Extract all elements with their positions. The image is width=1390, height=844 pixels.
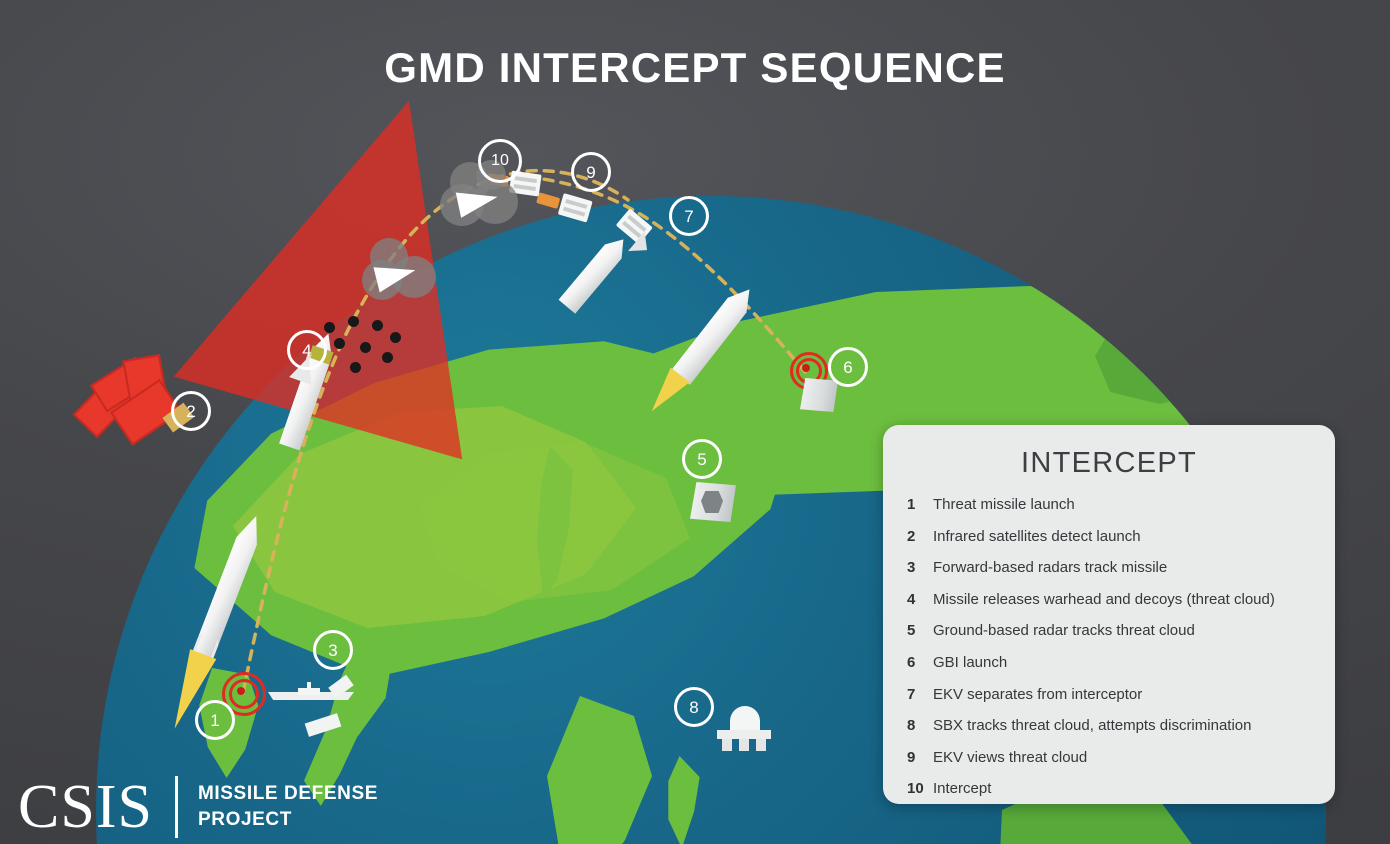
- landmass-indochina: [526, 696, 676, 844]
- legend-item-9-text: EKV views threat cloud: [933, 749, 1087, 766]
- csis-wordmark: CSIS: [18, 776, 153, 838]
- marker-2-label: 2: [186, 403, 195, 420]
- legend-panel: INTERCEPT 1 Threat missile launch 2 Infr…: [883, 425, 1335, 804]
- logo-subtitle-line2: PROJECT: [198, 807, 378, 833]
- marker-9[interactable]: 9: [571, 152, 611, 192]
- marker-1-label: 1: [210, 712, 219, 729]
- legend-item-5[interactable]: 5 Ground-based radar tracks threat cloud: [883, 622, 1335, 654]
- legend-item-5-text: Ground-based radar tracks threat cloud: [933, 622, 1195, 639]
- legend-item-10-number: 10: [907, 780, 933, 797]
- legend-item-1[interactable]: 1 Threat missile launch: [883, 496, 1335, 528]
- gbi-silo-structure: [800, 378, 838, 412]
- legend-item-3-number: 3: [907, 559, 933, 576]
- logo-subtitle-line1: MISSILE DEFENSE: [198, 781, 378, 807]
- gbi-target-core: [802, 364, 810, 372]
- marker-3[interactable]: 3: [313, 630, 353, 670]
- marker-2[interactable]: 2: [171, 391, 211, 431]
- legend-item-2[interactable]: 2 Infrared satellites detect launch: [883, 528, 1335, 560]
- decoy-dot: [390, 332, 401, 343]
- decoy-threat-cloud: [320, 316, 410, 378]
- legend-item-6-text: GBI launch: [933, 654, 1007, 671]
- legend-item-4-number: 4: [907, 591, 933, 608]
- marker-5[interactable]: 5: [682, 439, 722, 479]
- ship-mast: [307, 682, 311, 690]
- legend-item-3-text: Forward-based radars track missile: [933, 559, 1167, 576]
- legend-item-2-number: 2: [907, 528, 933, 545]
- marker-8-label: 8: [689, 699, 698, 716]
- legend-item-2-text: Infrared satellites detect launch: [933, 528, 1141, 545]
- csis-logo: CSIS MISSILE DEFENSE PROJECT: [18, 776, 378, 838]
- marker-6-label: 6: [843, 359, 852, 376]
- decoy-dot: [360, 342, 371, 353]
- target-ring-mid: [229, 679, 259, 709]
- marker-10-label: 10: [491, 153, 509, 169]
- legend-item-4-text: Missile releases warhead and decoys (thr…: [933, 591, 1275, 608]
- decoy-dot: [382, 352, 393, 363]
- marker-9-label: 9: [586, 164, 595, 181]
- legend-item-7[interactable]: 7 EKV separates from interceptor: [883, 686, 1335, 718]
- sbx-leg: [739, 739, 749, 751]
- threat-cloud-debris: [362, 236, 448, 312]
- legend-item-7-text: EKV separates from interceptor: [933, 686, 1142, 703]
- infographic-canvas: 1 2 3 4 5 6 7 8 9 10 GMD INTERCEPT SEQUE…: [0, 0, 1390, 844]
- ground-based-radar: [690, 482, 736, 522]
- decoy-dot: [324, 322, 335, 333]
- logo-divider: [175, 776, 178, 838]
- decoy-dot: [334, 338, 345, 349]
- legend-item-9[interactable]: 9 EKV views threat cloud: [883, 749, 1335, 781]
- marker-4-label: 4: [302, 342, 311, 359]
- page-title: GMD INTERCEPT SEQUENCE: [0, 44, 1390, 92]
- sbx-radar-platform: [717, 706, 771, 750]
- radar-aperture: [701, 491, 723, 513]
- marker-6[interactable]: 6: [828, 347, 868, 387]
- sbx-leg: [722, 739, 732, 751]
- decoy-dot: [372, 320, 383, 331]
- marker-7-label: 7: [684, 208, 693, 225]
- marker-1[interactable]: 1: [195, 700, 235, 740]
- landmass-philippines: [656, 756, 712, 844]
- legend-item-8-text: SBX tracks threat cloud, attempts discri…: [933, 717, 1251, 734]
- legend-item-8-number: 8: [907, 717, 933, 734]
- marker-3-label: 3: [328, 642, 337, 659]
- marker-8[interactable]: 8: [674, 687, 714, 727]
- legend-item-5-number: 5: [907, 622, 933, 639]
- legend-item-1-text: Threat missile launch: [933, 496, 1075, 513]
- sbx-radome: [730, 706, 760, 732]
- legend-title: INTERCEPT: [883, 447, 1335, 480]
- decoy-dot: [350, 362, 361, 373]
- legend-item-4[interactable]: 4 Missile releases warhead and decoys (t…: [883, 591, 1335, 623]
- logo-subtitle: MISSILE DEFENSE PROJECT: [198, 781, 378, 832]
- decoy-dot: [348, 316, 359, 327]
- sbx-leg: [756, 739, 766, 751]
- marker-7[interactable]: 7: [669, 196, 709, 236]
- legend-list: 1 Threat missile launch 2 Infrared satel…: [883, 496, 1335, 812]
- legend-item-8[interactable]: 8 SBX tracks threat cloud, attempts disc…: [883, 717, 1335, 749]
- legend-item-6[interactable]: 6 GBI launch: [883, 654, 1335, 686]
- legend-item-6-number: 6: [907, 654, 933, 671]
- sbx-deck: [717, 730, 771, 739]
- legend-item-9-number: 9: [907, 749, 933, 766]
- marker-10[interactable]: 10: [478, 139, 522, 183]
- marker-4[interactable]: 4: [287, 330, 327, 370]
- legend-item-3[interactable]: 3 Forward-based radars track missile: [883, 559, 1335, 591]
- legend-item-1-number: 1: [907, 496, 933, 513]
- legend-item-7-number: 7: [907, 686, 933, 703]
- legend-item-10[interactable]: 10 Intercept: [883, 780, 1335, 812]
- marker-5-label: 5: [697, 451, 706, 468]
- legend-item-10-text: Intercept: [933, 780, 991, 797]
- target-ring-core: [237, 687, 245, 695]
